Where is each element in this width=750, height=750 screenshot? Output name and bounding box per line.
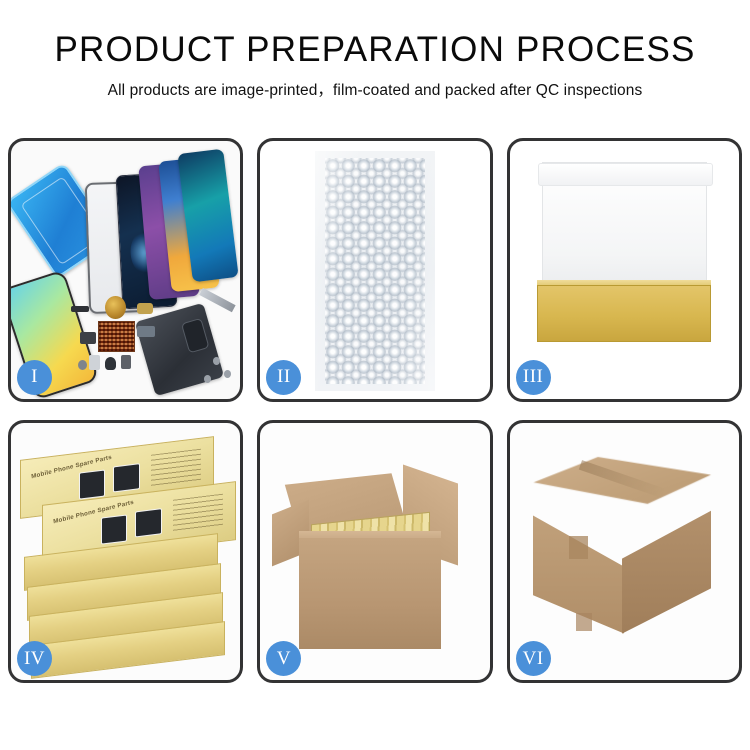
sealed-carton-top <box>531 457 714 534</box>
step-3-image <box>510 141 739 399</box>
phone-back-housing <box>135 303 225 397</box>
step-badge-3: III <box>516 360 551 395</box>
page-title: PRODUCT PREPARATION PROCESS <box>0 30 750 69</box>
vibrator-part <box>121 355 131 369</box>
white-box-lid <box>542 162 707 296</box>
tweezer-tool <box>199 287 235 311</box>
step-panel-1: I <box>8 138 243 402</box>
copper-coil-part <box>105 296 126 319</box>
step-4-image: Mobile Phone Spare Parts Mobile Phone Sp… <box>11 423 240 681</box>
step-6-image <box>510 423 739 681</box>
box-thumbnail <box>113 463 140 492</box>
step-panel-2: II <box>257 138 492 402</box>
gold-contact-part <box>137 303 153 313</box>
box-spec-lines <box>173 494 223 532</box>
box-spec-lines <box>151 449 201 487</box>
step-badge-4: IV <box>17 641 52 676</box>
screw-icon <box>213 357 220 365</box>
carton-body <box>299 538 441 649</box>
bubble-wrap-sheet <box>315 151 434 390</box>
battery-connector-part <box>71 306 89 312</box>
carton-tab-upper <box>569 536 587 559</box>
box-thumbnail <box>101 515 128 544</box>
step-2-image <box>260 141 489 399</box>
screw-icon <box>204 375 211 383</box>
yellow-box-base <box>537 285 711 342</box>
box-thumbnail <box>135 508 162 537</box>
product-preparation-infographic: PRODUCT PREPARATION PROCESS All products… <box>0 0 750 750</box>
step-panel-3: III <box>507 138 742 402</box>
step-panel-6: VI <box>507 420 742 684</box>
screw-icon <box>224 370 231 378</box>
step-badge-1: I <box>17 360 52 395</box>
header: PRODUCT PREPARATION PROCESS All products… <box>0 0 750 100</box>
page-subtitle: All products are image-printed，film-coat… <box>0 78 750 100</box>
plastic-sheen <box>315 151 434 390</box>
ribbon-cable-part <box>137 326 155 336</box>
retail-box-stack: Mobile Phone Spare Parts Mobile Phone Sp… <box>16 443 236 670</box>
flex-circuit-part <box>98 321 135 352</box>
step-panel-4: Mobile Phone Spare Parts Mobile Phone Sp… <box>8 420 243 684</box>
button-part <box>78 360 87 370</box>
box-thumbnail <box>78 469 105 498</box>
step-badge-2: II <box>266 360 301 395</box>
steps-grid: I II III <box>8 138 742 683</box>
step-5-image <box>260 423 489 681</box>
sealed-carton-right-face <box>622 500 711 634</box>
step-badge-6: VI <box>516 641 551 676</box>
carton-tab-lower <box>576 613 592 631</box>
sim-tray-part <box>89 355 100 370</box>
step-1-image <box>11 141 240 399</box>
step-panel-5: V <box>257 420 492 684</box>
speaker-part <box>105 357 116 370</box>
camera-module-part <box>80 332 96 345</box>
